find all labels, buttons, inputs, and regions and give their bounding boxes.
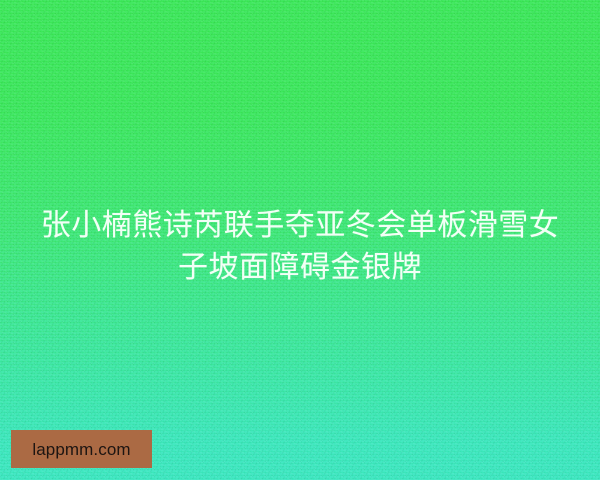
image-canvas: 张小楠熊诗芮联手夺亚冬会单板滑雪女子坡面障碍金银牌 lappmm.com (0, 0, 600, 480)
headline-text: 张小楠熊诗芮联手夺亚冬会单板滑雪女子坡面障碍金银牌 (0, 205, 600, 289)
watermark-badge: lappmm.com (11, 430, 152, 468)
watermark-label: lappmm.com (32, 441, 130, 458)
